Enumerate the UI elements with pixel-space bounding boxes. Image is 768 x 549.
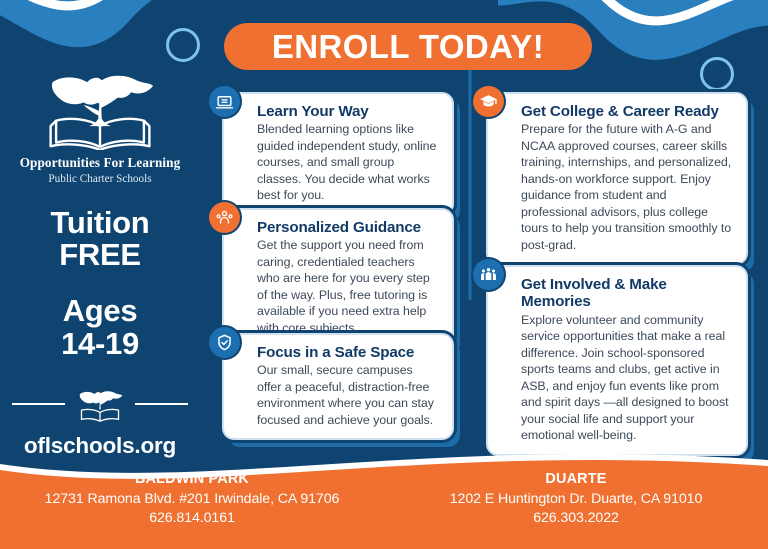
divider-left — [12, 403, 65, 405]
graduation-cap-icon — [473, 86, 504, 117]
card-personalized-guidance: Personalized Guidance Get the support yo… — [222, 208, 454, 348]
tuition-value: FREE — [51, 239, 150, 271]
tuition-stat: Tuition FREE — [51, 207, 150, 271]
divider-right — [135, 403, 188, 405]
card-title: Get Involved & Make Memories — [521, 276, 734, 311]
ages-stat: Ages 14-19 — [61, 295, 139, 359]
teacher-support-people-icon — [209, 202, 240, 233]
headline-text: ENROLL TODAY! — [272, 30, 544, 63]
card-college-career-ready: Get College & Career Ready Prepare for t… — [486, 92, 748, 265]
card-title: Personalized Guidance — [257, 219, 440, 236]
location-address: 1202 E Huntington Dr. Duarte, CA 91010 — [384, 491, 768, 507]
shield-check-icon — [209, 327, 240, 358]
card-get-involved: Get Involved & Make Memories Explore vol… — [486, 265, 748, 456]
laptop-computer-icon — [209, 86, 240, 117]
ofl-mini-logo-icon — [73, 384, 127, 424]
website-link[interactable]: oflschools.org — [24, 433, 176, 459]
card-body: Our small, secure campuses offer a peace… — [257, 362, 440, 428]
ofl-logo-icon — [36, 62, 164, 150]
location-city: DUARTE — [384, 471, 768, 487]
brand-tagline: Public Charter Schools — [48, 173, 151, 185]
ages-label: Ages — [61, 295, 139, 327]
flyer-canvas: ENROLL TODAY! Opportunities For Learning… — [0, 0, 768, 549]
location-phone[interactable]: 626.303.2022 — [384, 510, 768, 526]
brand-column: Opportunities For Learning Public Charte… — [0, 62, 200, 459]
card-body: Blended learning options like guided ind… — [257, 121, 440, 204]
website-divider-row — [12, 384, 188, 424]
location-duarte: DUARTE 1202 E Huntington Dr. Duarte, CA … — [384, 457, 768, 549]
location-phone[interactable]: 626.814.0161 — [0, 510, 384, 526]
card-focus-safe-space: Focus in a Safe Space Our small, secure … — [222, 333, 454, 440]
group-of-people-icon — [473, 259, 504, 290]
location-city: BALDWIN PARK — [0, 471, 384, 487]
card-title: Focus in a Safe Space — [257, 344, 440, 361]
card-title: Learn Your Way — [257, 103, 440, 120]
card-body: Get the support you need from caring, cr… — [257, 237, 440, 336]
footer-locations: BALDWIN PARK 12731 Ramona Blvd. #201 Irw… — [0, 457, 768, 549]
card-title: Get College & Career Ready — [521, 103, 734, 120]
card-body: Explore volunteer and community service … — [521, 312, 734, 444]
card-body: Prepare for the future with A-G and NCAA… — [521, 121, 734, 253]
brand-name: Opportunities For Learning — [20, 155, 181, 171]
ages-value: 14-19 — [61, 328, 139, 360]
tuition-label: Tuition — [51, 207, 150, 239]
location-baldwin-park: BALDWIN PARK 12731 Ramona Blvd. #201 Irw… — [0, 457, 384, 549]
card-learn-your-way: Learn Your Way Blended learning options … — [222, 92, 454, 216]
headline-pill: ENROLL TODAY! — [224, 23, 592, 70]
location-address: 12731 Ramona Blvd. #201 Irwindale, CA 91… — [0, 491, 384, 507]
